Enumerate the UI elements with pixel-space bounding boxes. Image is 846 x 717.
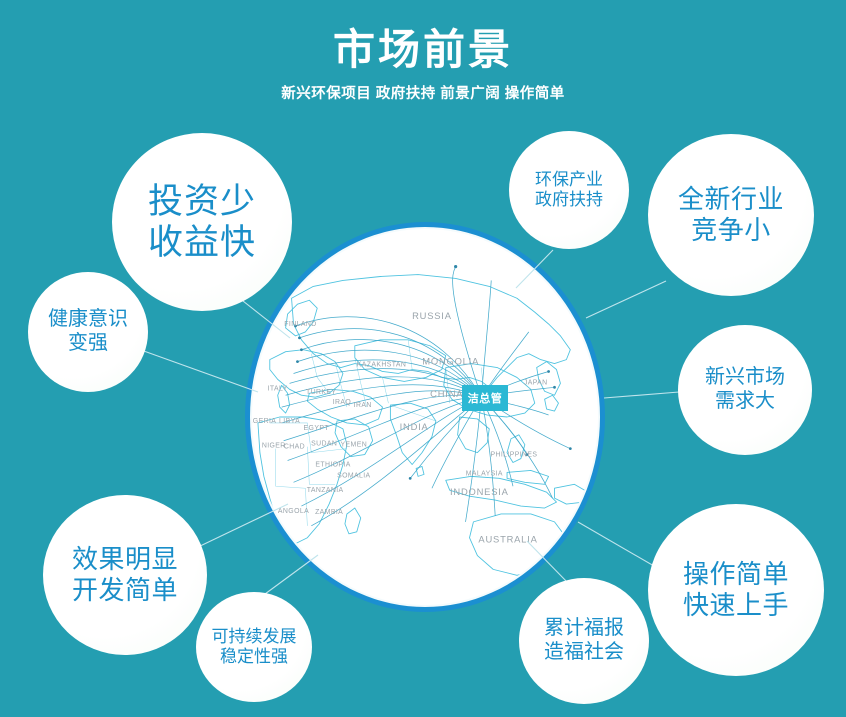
map-label-tanzania: TANZANIA <box>307 487 344 494</box>
bubble-line-2: 竞争小 <box>691 215 771 246</box>
map-label-niger: NIGER <box>262 443 286 450</box>
map-label-japan: JAPAN <box>524 379 548 386</box>
bubble-line-2: 变强 <box>68 332 108 356</box>
bubble-line-1: 可持续发展 <box>212 627 297 647</box>
bubble-line-1: 效果明显 <box>72 544 178 575</box>
page-title: 市场前景 <box>0 0 846 74</box>
map-label-iran: IRAN <box>354 402 372 409</box>
map-label-ethiopia: ETHIOPIA <box>315 461 350 468</box>
bubble-line-2: 开发简单 <box>72 575 178 606</box>
map-label-egypt: EGYPT <box>304 425 330 432</box>
map-country-labels: RUSSIAMONGOLIACHINAINDIAINDONESIAAUSTRAL… <box>252 310 548 545</box>
bubble-line-2: 收益快 <box>148 222 256 263</box>
map-label-chad: CHAD <box>284 444 305 451</box>
feature-bubble-sustainable[interactable]: 可持续发展 稳定性强 <box>196 592 312 702</box>
bubble-line-1: 全新行业 <box>678 184 784 215</box>
bubble-line-1: 环保产业 <box>535 170 603 190</box>
map-label-china: CHINA <box>430 388 463 399</box>
connector-bubble-6 <box>604 392 679 398</box>
globe-ring: RUSSIAMONGOLIACHINAINDIAINDONESIAAUSTRAL… <box>245 222 605 612</box>
feature-bubble-easy-operation[interactable]: 操作简单 快速上手 <box>648 504 824 676</box>
world-map-svg: RUSSIAMONGOLIACHINAINDIAINDONESIAAUSTRAL… <box>252 229 598 605</box>
bubble-line-2: 政府扶持 <box>535 190 603 210</box>
map-label-angola: ANGOLA <box>278 508 309 515</box>
map-label-libya: LIBYA <box>279 418 300 425</box>
bubble-line-2: 造福社会 <box>544 641 624 665</box>
header: 市场前景 新兴环保项目 政府扶持 前景广阔 操作简单 <box>0 0 846 103</box>
map-label-kazakhstan: KAZAKHSTAN <box>357 362 406 369</box>
map-label-italy: ITALY <box>268 385 288 392</box>
map-label-yemen: YEMEN <box>341 442 368 449</box>
feature-bubble-emerging-market[interactable]: 新兴市场 需求大 <box>678 325 812 455</box>
map-label-sudan: SUDAN <box>311 441 337 448</box>
map-label-finland: FINLAND <box>284 321 316 328</box>
bubble-line-1: 健康意识 <box>48 308 128 332</box>
bubble-line-2: 需求大 <box>715 390 775 414</box>
infographic-canvas: 市场前景 新兴环保项目 政府扶持 前景广阔 操作简单 <box>0 0 846 717</box>
map-label-australia: AUSTRALIA <box>478 534 537 545</box>
bubble-line-2: 快速上手 <box>683 590 789 621</box>
bubble-line-1: 新兴市场 <box>705 366 785 390</box>
map-label-algeria: ALGERIA <box>252 418 276 425</box>
map-label-malaysia: MALAYSIA <box>466 470 503 477</box>
connector-bubble-1 <box>141 350 258 392</box>
bubble-line-1: 操作简单 <box>683 559 789 590</box>
globe-interior: RUSSIAMONGOLIACHINAINDIAINDONESIAAUSTRAL… <box>252 229 598 605</box>
map-label-zambia: ZAMBIA <box>315 509 343 516</box>
map-label-india: INDIA <box>400 421 429 432</box>
bubble-line-1: 累计福报 <box>544 617 624 641</box>
map-label-indonesia: INDONESIA <box>450 486 509 497</box>
feature-bubble-investment[interactable]: 投资少 收益快 <box>112 133 292 311</box>
bubble-line-1: 投资少 <box>148 181 256 222</box>
map-label-turkey: TURKEY <box>306 389 336 396</box>
map-label-russia: RUSSIA <box>412 310 452 321</box>
hub-badge: 洁总管 <box>462 385 508 411</box>
feature-bubble-effective[interactable]: 效果明显 开发简单 <box>43 495 207 655</box>
bubble-line-2: 稳定性强 <box>220 647 288 667</box>
map-label-philippines: PHILIPPINES <box>490 452 537 459</box>
page-subtitle: 新兴环保项目 政府扶持 前景广阔 操作简单 <box>0 74 846 103</box>
world-globe: RUSSIAMONGOLIACHINAINDIAINDONESIAAUSTRAL… <box>245 222 605 612</box>
feature-bubble-government-support[interactable]: 环保产业 政府扶持 <box>509 131 629 249</box>
map-label-somalia: SOMALIA <box>337 472 370 479</box>
feature-bubble-new-industry[interactable]: 全新行业 竞争小 <box>648 134 814 296</box>
map-label-mongolia: MONGOLIA <box>422 356 479 367</box>
feature-bubble-health-awareness[interactable]: 健康意识 变强 <box>28 272 148 392</box>
map-label-iraq: IRAQ <box>333 399 352 406</box>
feature-bubble-social-benefit[interactable]: 累计福报 造福社会 <box>519 578 649 704</box>
